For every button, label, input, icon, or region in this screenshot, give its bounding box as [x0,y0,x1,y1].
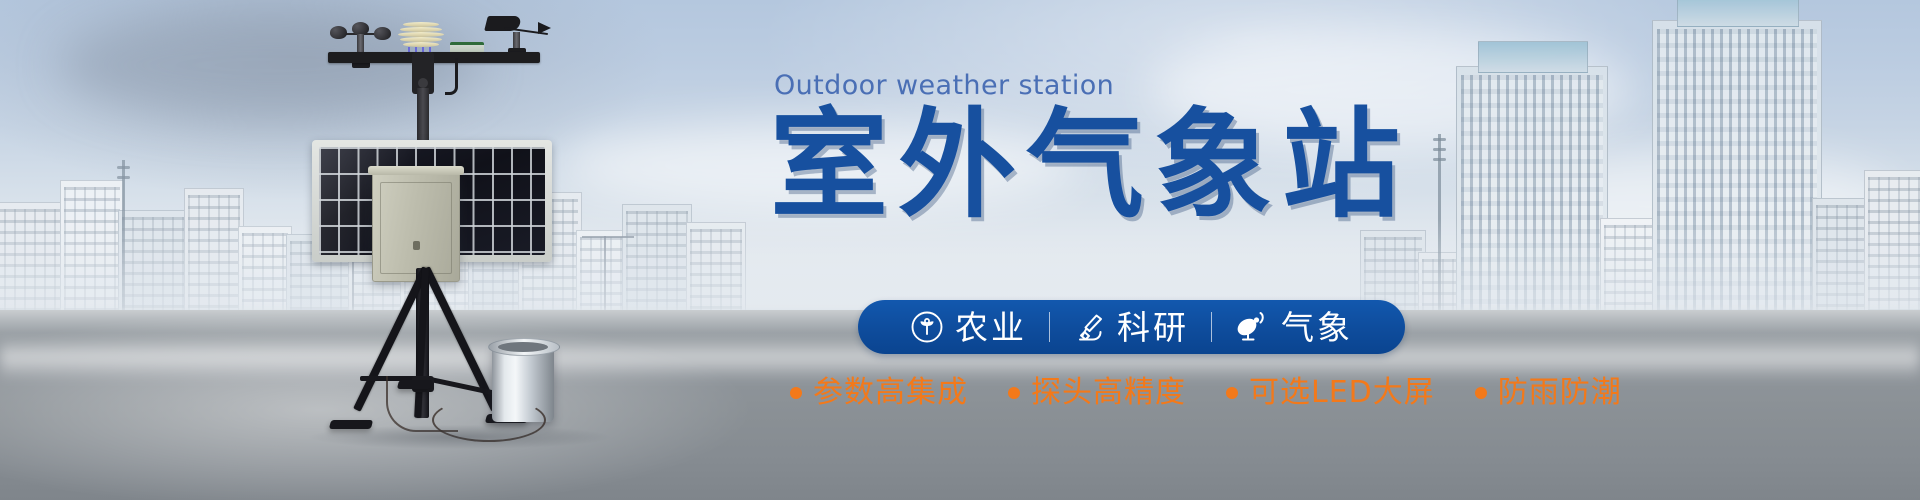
pill-label: 科研 [1117,311,1189,344]
feature-item: 探头高精度 [1008,378,1186,408]
pill-item-agriculture[interactable]: 农业 [888,310,1049,344]
radiation-shield [398,22,444,52]
page-title: 室外气象站 [770,105,1850,225]
feature-label: 探头高精度 [1031,378,1186,408]
satellite-dish-icon [1234,310,1270,344]
feature-item: 参数高集成 [790,378,968,408]
control-cabinet [372,172,460,282]
pill-item-research[interactable]: 科研 [1050,310,1211,344]
feature-list: 参数高集成 探头高精度 可选LED大屏 防雨防潮 [790,378,1622,408]
bullet-dot-icon [790,387,802,399]
product-banner: Outdoor weather station 室外气象站 农业 [0,0,1920,500]
weather-station-product [300,6,600,426]
feature-label: 可选LED大屏 [1249,378,1435,408]
pill-item-meteorology[interactable]: 气象 [1212,310,1375,344]
cabinet-lock-icon [413,241,420,250]
mast-pole [417,88,429,144]
bullet-dot-icon [1226,387,1238,399]
pill-label: 气象 [1281,311,1353,344]
microscope-icon [1072,310,1106,344]
headline-block: Outdoor weather station 室外气象站 [770,70,1850,225]
pill-label: 农业 [955,311,1027,344]
wind-vane [486,16,552,56]
bullet-dot-icon [1008,387,1020,399]
feature-label: 参数高集成 [813,378,968,408]
sprout-circle-icon [910,310,944,344]
feature-item: 可选LED大屏 [1226,378,1435,408]
sensor-cable [445,58,458,95]
product-shadow [250,420,670,454]
feature-item: 防雨防潮 [1475,378,1622,408]
anemometer-cups-icon [330,22,392,56]
bullet-dot-icon [1475,387,1487,399]
category-pill: 农业 科研 [858,300,1405,354]
sensor-crossarm [328,52,540,63]
feature-label: 防雨防潮 [1498,378,1622,408]
